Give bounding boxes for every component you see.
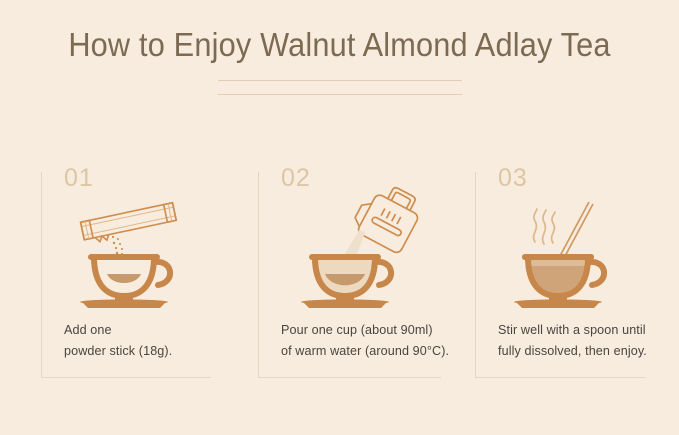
caption-line: fully dissolved, then enjoy. <box>498 341 647 363</box>
steam-lines <box>534 209 555 244</box>
step-caption-3: Stir well with a spoon until fully disso… <box>498 320 647 363</box>
caption-line: Pour one cup (about 90ml) <box>281 320 449 342</box>
caption-line: Add one <box>64 320 172 342</box>
falling-powder-dots <box>112 236 123 255</box>
step-illustration-2 <box>259 186 441 316</box>
infographic-poster: How to Enjoy Walnut Almond Adlay Tea 01 <box>0 0 679 435</box>
powder-stick-pouring-into-cup-icon <box>60 186 195 311</box>
cup-with-spoon-and-steam-icon <box>494 186 629 311</box>
step-card-2: 02 <box>258 172 441 378</box>
steps-row: 01 <box>0 172 679 382</box>
title-divider-group <box>218 80 462 95</box>
divider-line-bottom <box>218 94 462 95</box>
caption-line: Stir well with a spoon until <box>498 320 647 342</box>
divider-line-top <box>218 80 462 81</box>
step-caption-1: Add one powder stick (18g). <box>64 320 172 363</box>
step-illustration-3 <box>476 186 645 316</box>
kettle-pouring-water-into-cup-icon <box>281 186 431 311</box>
page-title: How to Enjoy Walnut Almond Adlay Tea <box>24 0 655 64</box>
step-card-3: 03 <box>475 172 645 378</box>
step-card-1: 01 <box>41 172 211 378</box>
poster-header: How to Enjoy Walnut Almond Adlay Tea <box>0 0 679 64</box>
caption-line: powder stick (18g). <box>64 341 172 363</box>
step-caption-2: Pour one cup (about 90ml) of warm water … <box>281 320 449 363</box>
caption-line: of warm water (around 90°C). <box>281 341 449 363</box>
step-illustration-1 <box>42 186 211 316</box>
